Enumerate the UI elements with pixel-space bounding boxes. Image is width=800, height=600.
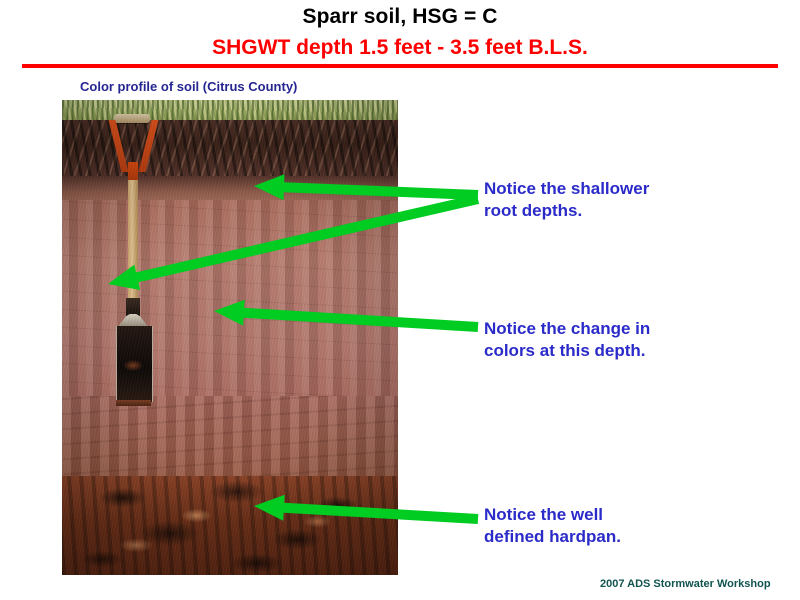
footer-credit: 2007 ADS Stormwater Workshop: [600, 578, 771, 590]
shovel-blade-tip: [116, 400, 151, 406]
shovel-yoke-right: [139, 120, 159, 172]
shovel-blade: [116, 326, 153, 402]
shovel-yoke-left: [109, 120, 129, 172]
slide-canvas: Sparr soil, HSG = C SHGWT depth 1.5 feet…: [0, 0, 800, 600]
page-title: Sparr soil, HSG = C: [0, 5, 800, 29]
title-divider: [22, 64, 778, 68]
soil-profile-photo: [62, 100, 398, 575]
annotation-note-hardpan: Notice the well defined hardpan.: [484, 504, 621, 548]
shovel-grip: [114, 114, 150, 123]
annotation-note-shallow-roots: Notice the shallower root depths.: [484, 178, 649, 222]
shovel-icon: [107, 114, 163, 414]
page-subtitle: SHGWT depth 1.5 feet - 3.5 feet B.L.S.: [0, 36, 800, 60]
shovel-shaft: [128, 180, 138, 300]
annotation-note-color-change: Notice the change in colors at this dept…: [484, 318, 650, 362]
photo-caption: Color profile of soil (Citrus County): [80, 79, 297, 94]
soil-layer-hardpan: [62, 476, 398, 575]
